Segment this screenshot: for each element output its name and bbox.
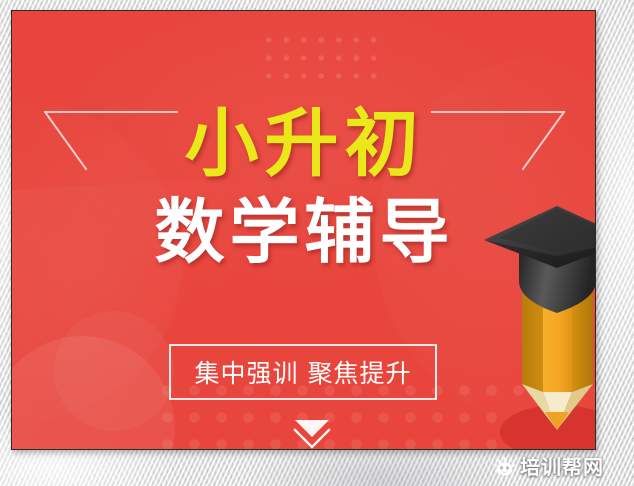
headline-primary: 小升初 (12, 107, 596, 181)
tagline-text: 集中强训 聚焦提升 (195, 354, 412, 390)
decor-circle-bottom-left (11, 336, 175, 450)
decor-circle-mid-left (54, 311, 174, 431)
chevron-down-icon[interactable] (288, 414, 336, 450)
mortarboard (484, 206, 596, 313)
watermark-text: 培训帮网 (520, 457, 604, 477)
dot-grid-top (258, 29, 382, 79)
poster-page: 小升初 数学辅导 集中强训 聚焦提升 (0, 0, 634, 486)
tagline-box: 集中强训 聚焦提升 (169, 344, 437, 400)
rule-diagonal-left (45, 112, 86, 169)
graduation-cap-pencil-illustration (467, 196, 596, 450)
sun-face-icon (494, 456, 515, 477)
watermark: 培训帮网 (494, 456, 604, 477)
background-diagonal-sheen (11, 170, 400, 450)
background-arc-left (11, 101, 182, 421)
rule-diagonal-right (523, 112, 564, 169)
promo-banner[interactable]: 小升初 数学辅导 集中强训 聚焦提升 (11, 10, 596, 450)
